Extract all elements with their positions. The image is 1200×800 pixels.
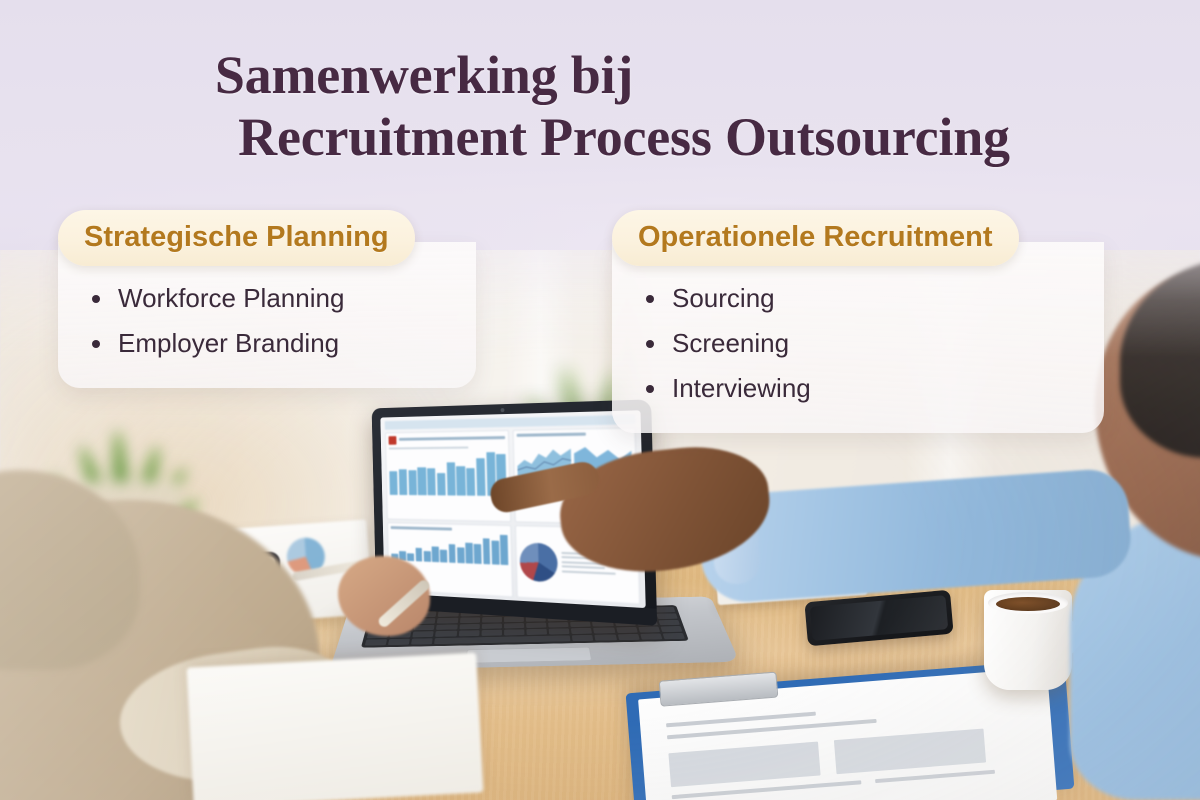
card-right-body: Sourcing Screening Interviewing bbox=[612, 242, 1104, 433]
list-item-label: Workforce Planning bbox=[118, 283, 344, 313]
card-left-heading-text: Strategische Planning bbox=[84, 221, 389, 253]
bullet-icon bbox=[646, 295, 654, 303]
list-item: Interviewing bbox=[638, 366, 1078, 411]
list-item-label: Interviewing bbox=[672, 373, 811, 403]
pie-chart bbox=[519, 542, 558, 582]
panel-badge bbox=[389, 436, 397, 445]
bar-chart bbox=[389, 450, 506, 496]
card-operationele-recruitment: Operationele Recruitment Sourcing Screen… bbox=[612, 210, 1124, 433]
bullet-icon bbox=[92, 295, 100, 303]
list-item: Screening bbox=[638, 321, 1078, 366]
list-item-label: Employer Branding bbox=[118, 328, 339, 358]
laptop-trackpad bbox=[466, 647, 593, 664]
bullet-icon bbox=[92, 340, 100, 348]
infographic-canvas: Samenwerking bij Recruitment Process Out… bbox=[0, 0, 1200, 800]
column-chart bbox=[391, 532, 508, 565]
card-right-heading-pill: Operationele Recruitment bbox=[612, 210, 1019, 266]
card-left-list: Workforce Planning Employer Branding bbox=[84, 276, 450, 366]
card-right-heading-text: Operationele Recruitment bbox=[638, 221, 993, 253]
list-item: Workforce Planning bbox=[84, 276, 450, 321]
title-line-1: Samenwerking bij bbox=[0, 44, 1200, 106]
open-notebook bbox=[187, 653, 484, 800]
title-line-2: Recruitment Process Outsourcing bbox=[48, 106, 1200, 168]
card-strategische-planning: Strategische Planning Workforce Planning… bbox=[58, 210, 498, 388]
dashboard-bar-chart-panel bbox=[385, 430, 511, 522]
bullet-icon bbox=[646, 385, 654, 393]
card-right-list: Sourcing Screening Interviewing bbox=[638, 276, 1078, 411]
webcam-icon bbox=[501, 408, 505, 412]
list-item-label: Screening bbox=[672, 328, 789, 358]
list-item-label: Sourcing bbox=[672, 283, 775, 313]
card-left-heading-pill: Strategische Planning bbox=[58, 210, 415, 266]
list-item: Employer Branding bbox=[84, 321, 450, 366]
page-title: Samenwerking bij Recruitment Process Out… bbox=[0, 44, 1200, 168]
bullet-icon bbox=[646, 340, 654, 348]
list-item: Sourcing bbox=[638, 276, 1078, 321]
